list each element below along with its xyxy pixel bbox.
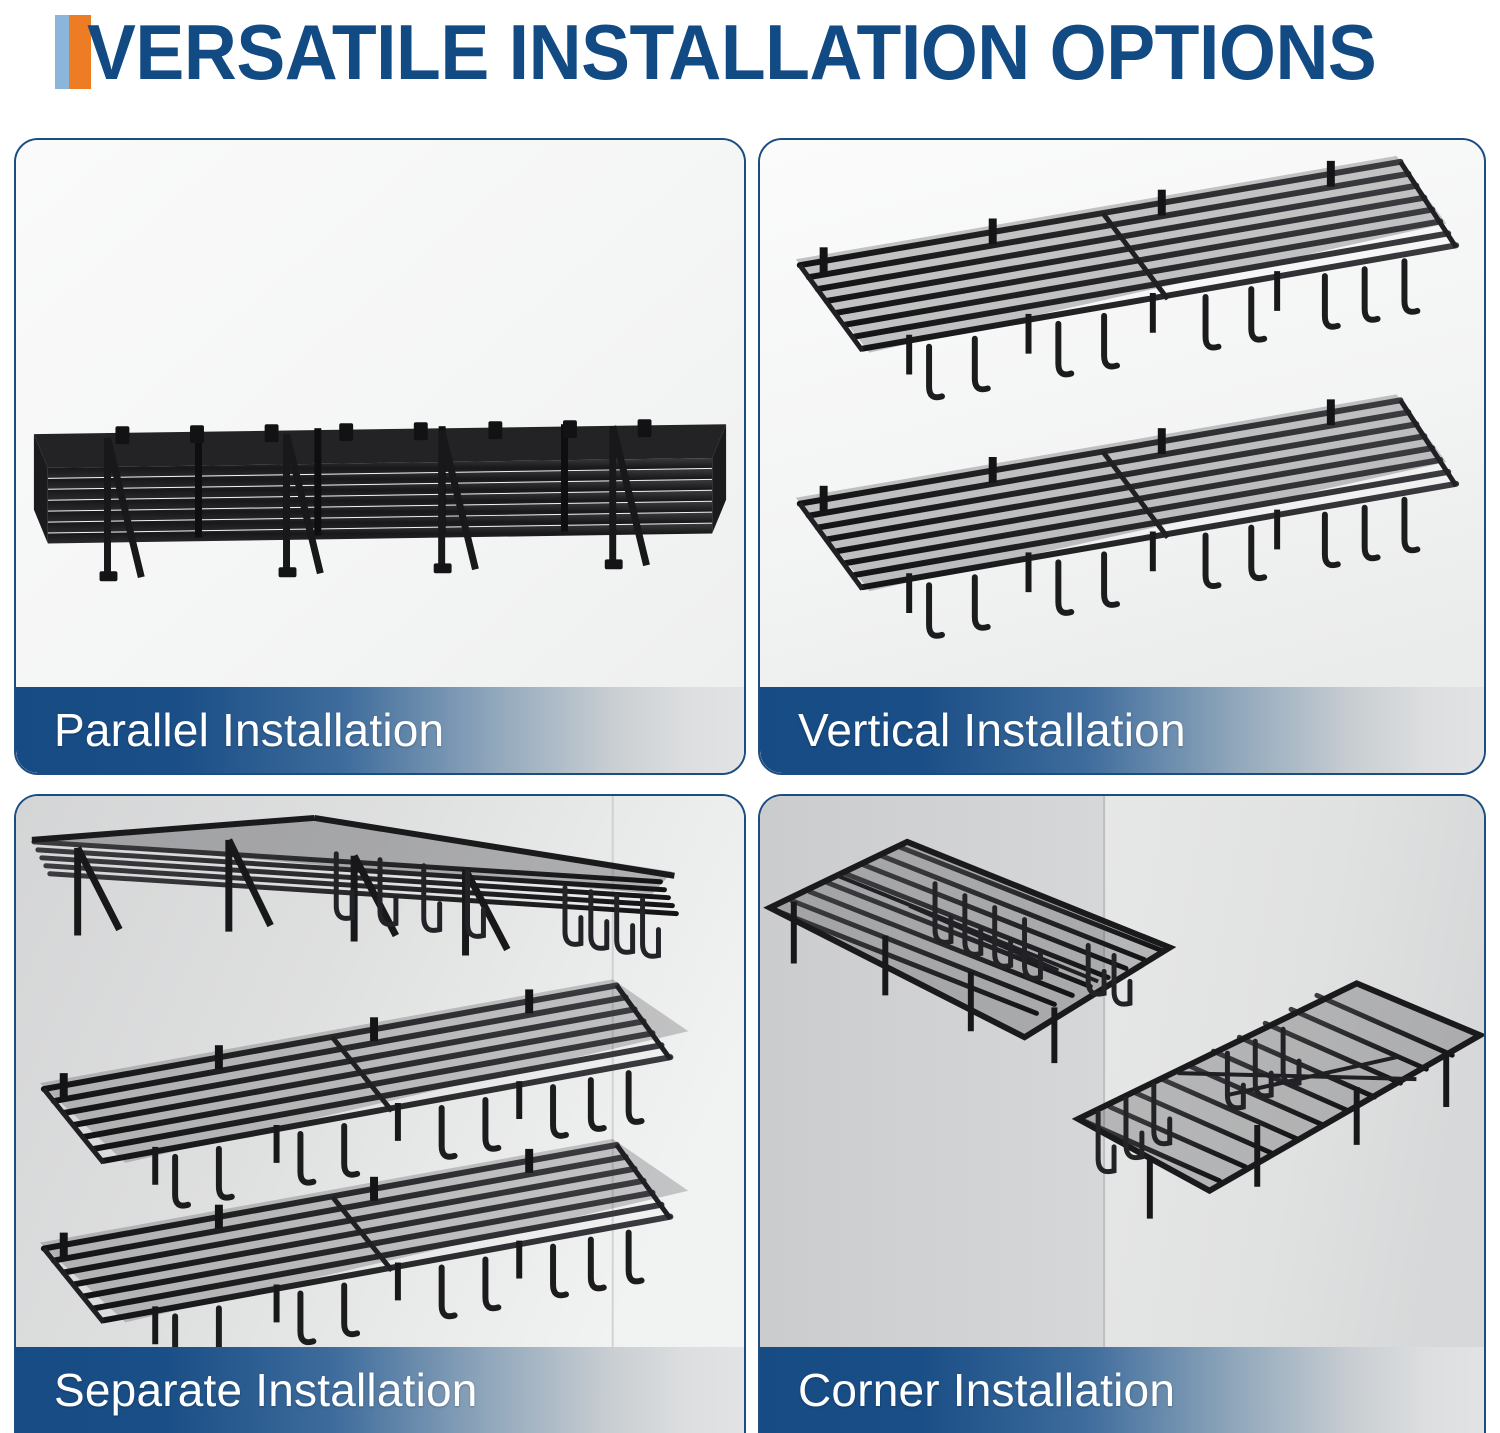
panel-vertical-installation[interactable]: Vertical Installation <box>758 138 1486 775</box>
caption-bar-parallel: Parallel Installation <box>16 687 744 773</box>
caption-bar-separate: Separate Installation <box>14 1347 744 1433</box>
panel-parallel-installation[interactable]: Parallel Installation <box>14 138 746 775</box>
corner-installation-illustration <box>760 796 1484 1433</box>
caption-label-corner: Corner Installation <box>760 1363 1175 1417</box>
installation-options-grid: Parallel Installation <box>0 104 1500 1433</box>
separate-installation-illustration <box>16 796 744 1433</box>
panel-corner-installation[interactable]: Corner Installation <box>758 794 1486 1433</box>
title-accent-icon <box>55 15 91 89</box>
caption-label-parallel: Parallel Installation <box>16 703 444 757</box>
page-title: VERSATILE INSTALLATION OPTIONS <box>87 13 1376 91</box>
panel-separate-installation[interactable]: Separate Installation <box>14 794 746 1433</box>
caption-bar-vertical: Vertical Installation <box>760 687 1484 773</box>
vertical-installation-illustration <box>760 140 1484 773</box>
parallel-installation-illustration <box>16 140 744 773</box>
caption-bar-corner: Corner Installation <box>760 1347 1484 1433</box>
page-header: VERSATILE INSTALLATION OPTIONS <box>0 0 1500 104</box>
caption-label-separate: Separate Installation <box>14 1363 478 1417</box>
caption-label-vertical: Vertical Installation <box>760 703 1186 757</box>
